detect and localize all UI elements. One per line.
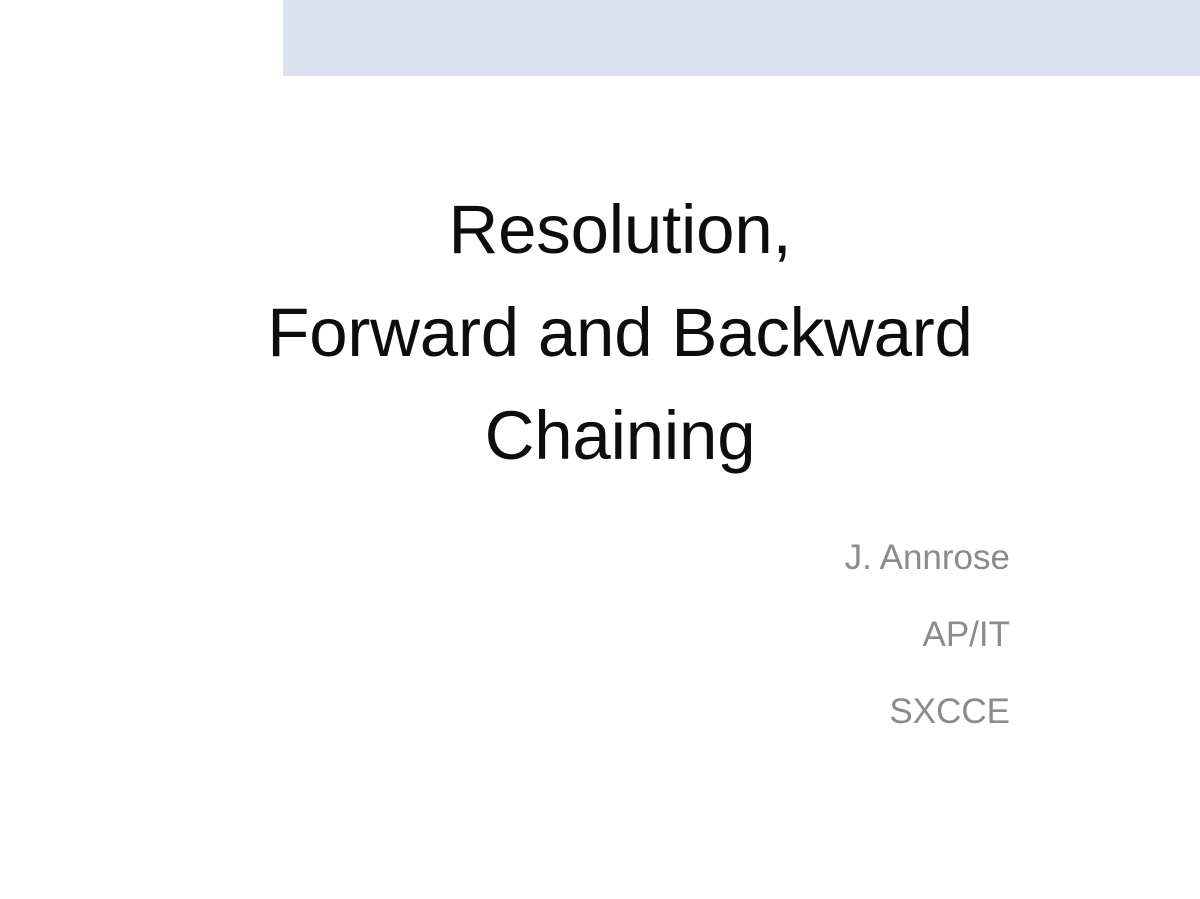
slide-subtitle: J. Annrose AP/IT SXCCE <box>0 519 1010 750</box>
subtitle-designation: AP/IT <box>0 596 1010 673</box>
decorative-top-band <box>283 0 1200 76</box>
subtitle-institution: SXCCE <box>0 673 1010 750</box>
title-line-1: Resolution, <box>0 178 1200 281</box>
title-line-2: Forward and Backward <box>0 281 1200 384</box>
slide-title: Resolution, Forward and Backward Chainin… <box>0 178 1200 487</box>
title-slide: Resolution, Forward and Backward Chainin… <box>0 0 1200 899</box>
subtitle-author: J. Annrose <box>0 519 1010 596</box>
title-line-3: Chaining <box>0 384 1200 487</box>
